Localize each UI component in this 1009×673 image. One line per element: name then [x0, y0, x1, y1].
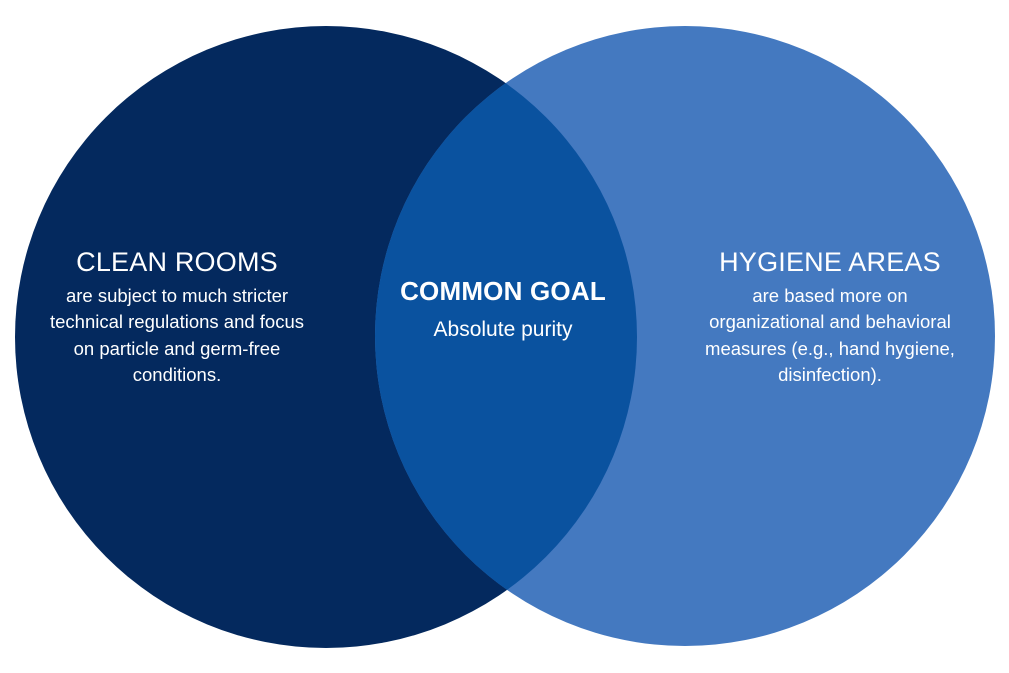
hygiene-areas-body: are based more on organizational and beh…	[698, 283, 962, 388]
common-goal-body: Absolute purity	[397, 316, 609, 343]
clean-rooms-heading: CLEAN ROOMS	[48, 245, 306, 279]
hygiene-areas-heading: HYGIENE AREAS	[698, 245, 962, 279]
clean-rooms-body: are subject to much stricter technical r…	[48, 283, 306, 388]
common-goal-heading: COMMON GOAL	[397, 276, 609, 306]
hygiene-areas-label: HYGIENE AREAS are based more on organiza…	[698, 245, 962, 388]
clean-rooms-label: CLEAN ROOMS are subject to much stricter…	[48, 245, 306, 388]
venn-diagram: CLEAN ROOMS are subject to much stricter…	[0, 0, 1009, 673]
common-goal-label: COMMON GOAL Absolute purity	[397, 276, 609, 343]
